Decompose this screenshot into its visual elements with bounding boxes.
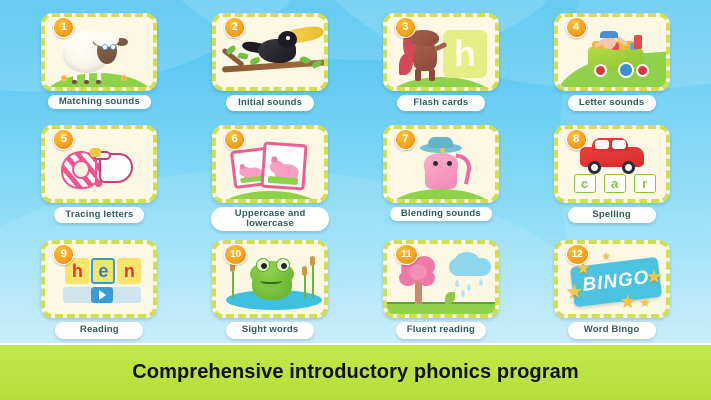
flash-card-letter: h — [443, 30, 487, 78]
activity-card[interactable]: 10 — [212, 240, 328, 318]
activity-card[interactable]: 11 — [383, 240, 499, 318]
star-icon: ★ — [640, 296, 651, 308]
activity-tile-initial-sounds[interactable]: 2 Initial sounds — [185, 4, 356, 116]
activity-card[interactable]: 6 — [212, 125, 328, 203]
spelling-tile: c — [574, 174, 596, 193]
activity-label: Uppercase and lowercase — [211, 207, 329, 232]
activity-card[interactable]: h e n 9 — [41, 240, 157, 318]
activity-tile-spelling[interactable]: c a r 8 Spelling — [526, 116, 697, 232]
activity-card[interactable]: h 3 — [383, 13, 499, 91]
spelling-tile: r — [634, 174, 656, 193]
activity-number-badge: 2 — [224, 17, 245, 38]
activity-tile-flash-cards[interactable]: h 3 Flash cards — [356, 4, 527, 116]
activity-label: Flash cards — [397, 95, 485, 111]
activity-card[interactable]: c a r 8 — [554, 125, 670, 203]
spelling-tile: a — [604, 174, 626, 193]
flash-card-letter-square: h — [443, 30, 487, 78]
activity-card[interactable]: 5 — [41, 125, 157, 203]
activity-label: Spelling — [568, 207, 656, 223]
activity-tile-uppercase-lowercase[interactable]: 6 Uppercase and lowercase — [185, 116, 356, 232]
activity-tile-tracing-letters[interactable]: 5 Tracing letters — [14, 116, 185, 232]
activity-label: Matching sounds — [48, 95, 151, 109]
bottom-banner: Comprehensive introductory phonics progr… — [0, 343, 711, 400]
activity-tile-sight-words[interactable]: 10 Sight words — [185, 231, 356, 343]
reading-tile-selected: e — [91, 258, 115, 284]
activity-tile-fluent-reading[interactable]: 11 Fluent reading — [356, 231, 527, 343]
activity-label: Reading — [55, 322, 143, 338]
activity-card[interactable]: 2 — [212, 13, 328, 91]
activity-label: Letter sounds — [568, 95, 656, 111]
activity-number-badge: 4 — [566, 17, 587, 38]
activity-label: Tracing letters — [54, 207, 144, 223]
activity-label: Initial sounds — [226, 95, 314, 111]
star-icon: ★ — [566, 282, 584, 302]
activity-label: Word Bingo — [568, 322, 656, 338]
activity-label: Sight words — [226, 322, 314, 338]
activity-card[interactable]: 1 — [41, 13, 157, 91]
activity-tile-reading[interactable]: h e n 9 Reading — [14, 231, 185, 343]
activity-label: Fluent reading — [396, 322, 486, 338]
activity-number-badge: 6 — [224, 129, 245, 150]
activity-tile-letter-sounds[interactable]: 4 Letter sounds — [526, 4, 697, 116]
star-icon: ★ — [646, 268, 663, 287]
activity-number-badge: 7 — [395, 129, 416, 150]
activity-card[interactable]: 4 — [554, 13, 670, 91]
star-icon: ★ — [620, 292, 636, 310]
activity-grid: 1 Matching sounds — [0, 0, 711, 345]
phonics-menu-screen: 1 Matching sounds — [0, 0, 711, 400]
play-icon — [91, 287, 113, 303]
star-icon: ★ — [602, 252, 611, 262]
activity-tile-matching-sounds[interactable]: 1 Matching sounds — [14, 4, 185, 116]
activity-tile-blending-sounds[interactable]: 7 Blending sounds — [356, 116, 527, 232]
activity-card[interactable]: 7 — [383, 125, 499, 203]
activity-number-badge: 12 — [566, 244, 589, 265]
activity-card[interactable]: BINGO ★ ★ ★ ★ ★ ★ 12 — [554, 240, 670, 318]
activity-label: Blending sounds — [390, 207, 492, 221]
reading-tile: n — [117, 258, 141, 284]
activity-tile-word-bingo[interactable]: BINGO ★ ★ ★ ★ ★ ★ 12 Word Bingo — [526, 231, 697, 343]
activity-number-badge: 8 — [566, 129, 587, 150]
activity-number-badge: 3 — [395, 17, 416, 38]
activity-number-badge: 5 — [53, 129, 74, 150]
banner-text: Comprehensive introductory phonics progr… — [132, 361, 579, 384]
